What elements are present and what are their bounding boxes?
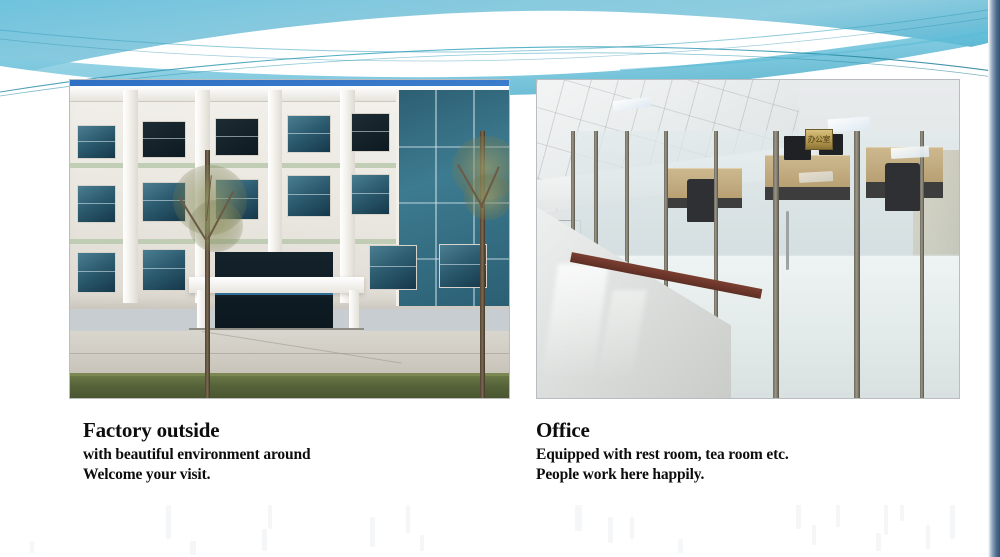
caption-factory-outside: Factory outside with beautiful environme… xyxy=(83,418,310,486)
slide-edge-stripe xyxy=(988,0,1000,557)
caption-title-factory: Factory outside xyxy=(83,418,310,443)
office-chair-2 xyxy=(885,163,920,211)
bottom-watermark xyxy=(0,502,1000,557)
window-top-1 xyxy=(77,125,117,160)
caption-office: Office Equipped with rest room, tea room… xyxy=(536,418,789,486)
tree-right-foliage-2 xyxy=(464,174,509,220)
office-interior-photo: 办公室 xyxy=(536,79,960,399)
caption-title-office: Office xyxy=(536,418,789,443)
caption-line-factory-2: Welcome your visit. xyxy=(83,465,310,485)
plaza-seam-horizontal xyxy=(70,353,509,354)
factory-photo-content xyxy=(70,80,509,398)
partition-door-stile-right xyxy=(854,131,860,398)
tree-right xyxy=(456,131,509,398)
presentation-slide: 办公室 Factory outside with beautiful envir… xyxy=(0,0,1000,557)
window-low-3 xyxy=(369,245,417,290)
caption-line-office-1: Equipped with rest room, tea room etc. xyxy=(536,445,789,465)
glass-door-handle xyxy=(786,211,789,270)
partition-door-stile-left xyxy=(773,131,779,398)
facade-pilaster-1 xyxy=(123,90,138,303)
window-mid-1 xyxy=(77,185,117,223)
grass-strip xyxy=(70,373,509,398)
caption-line-office-2: People work here happily. xyxy=(536,465,789,485)
window-low-1 xyxy=(77,252,117,293)
grass-edge xyxy=(70,373,509,376)
partition-mullion-6 xyxy=(920,131,924,398)
tree-left xyxy=(171,150,251,398)
factory-exterior-photo xyxy=(69,79,510,399)
ceiling-light-3 xyxy=(891,146,930,159)
ceiling-light-4 xyxy=(798,171,832,182)
office-door-sign: 办公室 xyxy=(805,129,833,150)
window-mid-4 xyxy=(287,175,331,216)
caption-line-factory-1: with beautiful environment around xyxy=(83,445,310,465)
office-photo-content: 办公室 xyxy=(537,80,959,398)
window-top-5 xyxy=(351,113,391,151)
window-mid-5 xyxy=(351,174,391,215)
window-top-4 xyxy=(287,115,331,153)
